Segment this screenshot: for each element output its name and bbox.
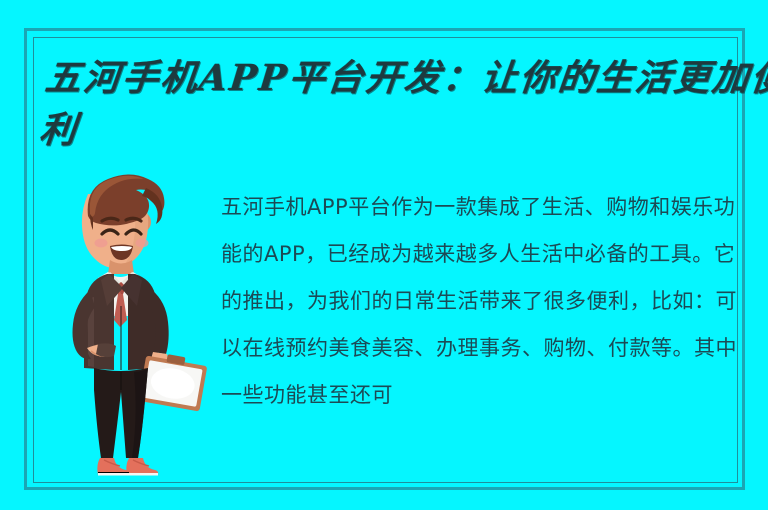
article-body: 五河手机APP平台作为一款集成了生活、购物和娱乐功能的APP，已经成为越来越多人…	[221, 184, 755, 419]
page-title: 五河手机APP平台开发：让你的生活更加便利	[37, 52, 768, 156]
poster-canvas: 五河手机APP平台开发：让你的生活更加便利	[0, 0, 768, 510]
illustration-businessman	[60, 172, 225, 490]
